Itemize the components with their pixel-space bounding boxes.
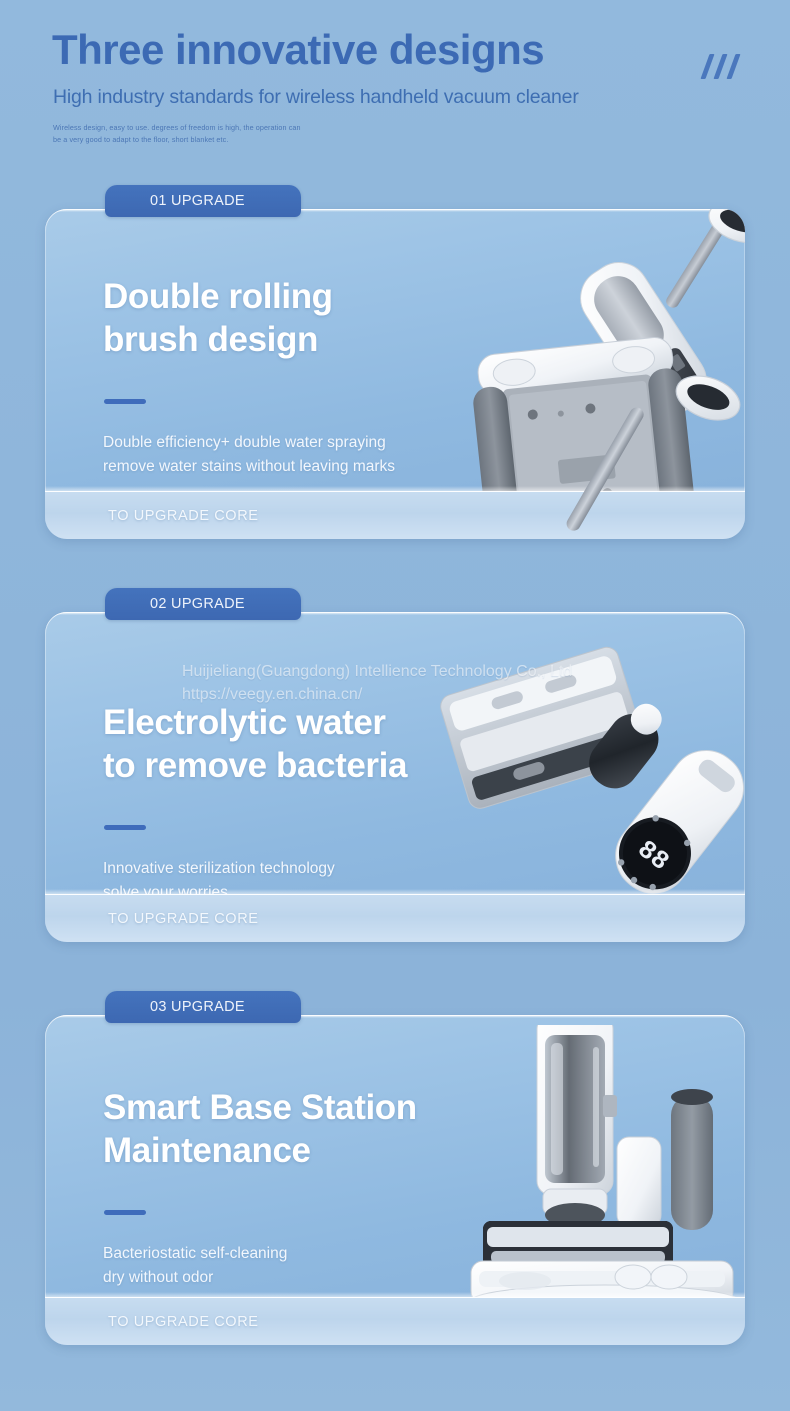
card-footer-2[interactable]: TO UPGRADE CORE bbox=[45, 894, 745, 942]
card-description-1: Double efficiency+ double water spraying… bbox=[103, 431, 395, 479]
card-description-3: Bacteriostatic self-cleaning dry without… bbox=[103, 1242, 287, 1290]
title-rule-1 bbox=[104, 399, 146, 404]
upgrade-card-3[interactable]: Smart Base Station Maintenance Bacterios… bbox=[45, 1015, 745, 1345]
title-rule-3 bbox=[104, 1210, 146, 1215]
smart-base-station-dock-image bbox=[465, 1025, 745, 1335]
card-footer-3[interactable]: TO UPGRADE CORE bbox=[45, 1297, 745, 1345]
card-title-3: Smart Base Station Maintenance bbox=[103, 1087, 417, 1172]
card-title-2: Electrolytic water to remove bacteria bbox=[103, 702, 407, 787]
page-subtitle: High industry standards for wireless han… bbox=[53, 86, 579, 109]
svg-text:88: 88 bbox=[632, 834, 675, 877]
footer-label-2: TO UPGRADE CORE bbox=[108, 911, 259, 927]
double-rolling-brush-vacuum-head-image bbox=[440, 209, 745, 524]
upgrade-badge-1[interactable]: 01 UPGRADE bbox=[105, 185, 301, 217]
upgrade-badge-2[interactable]: 02 UPGRADE bbox=[105, 588, 301, 620]
upgrade-card-1[interactable]: Double rolling brush design Double effic… bbox=[45, 209, 745, 539]
footer-label-1: TO UPGRADE CORE bbox=[108, 508, 259, 524]
three-slashes-icon bbox=[703, 54, 747, 84]
page-title: Three innovative designs bbox=[52, 28, 544, 72]
page-description: Wireless design, easy to use. degrees of… bbox=[53, 122, 301, 145]
footer-label-3: TO UPGRADE CORE bbox=[108, 1314, 259, 1330]
card-footer-1[interactable]: TO UPGRADE CORE bbox=[45, 491, 745, 539]
card-title-1: Double rolling brush design bbox=[103, 276, 333, 361]
page-header: Three innovative designs High industry s… bbox=[0, 0, 790, 178]
upgrade-card-2[interactable]: 88 Electrolytic water to remove bacteria… bbox=[45, 612, 745, 942]
upgrade-badge-3[interactable]: 03 UPGRADE bbox=[105, 991, 301, 1023]
title-rule-2 bbox=[104, 825, 146, 830]
